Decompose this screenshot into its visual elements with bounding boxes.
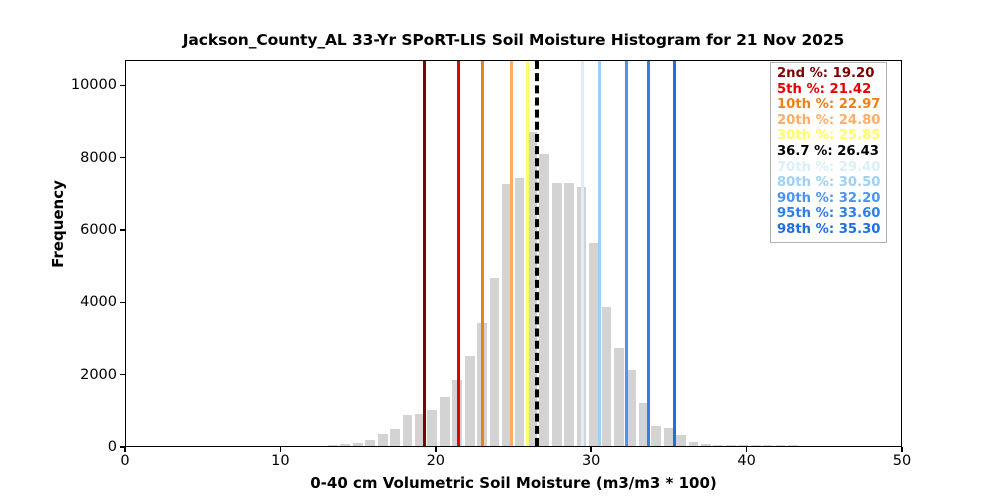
y-tick-label: 0 (108, 439, 117, 455)
x-tick-mark (435, 447, 437, 452)
page-title: Jackson_County_AL 33-Yr SPoRT-LIS Soil M… (125, 31, 902, 49)
percentile-line-5th (457, 61, 460, 446)
y-tick-label: 2000 (80, 367, 117, 383)
percentile-line-80th (598, 61, 601, 446)
histogram-bar (340, 444, 350, 446)
x-tick-label: 40 (737, 453, 755, 469)
histogram-bar (738, 445, 748, 446)
x-tick-mark (124, 447, 126, 452)
legend-entry-90th: 90th %: 32.20 (777, 191, 880, 207)
percentile-line-95th (647, 61, 650, 446)
histogram-bar (614, 348, 624, 446)
y-tick-label: 6000 (80, 222, 117, 238)
histogram-bar (515, 178, 525, 446)
legend-entry-2nd: 2nd %: 19.20 (777, 66, 880, 82)
percentile-line-70th (581, 61, 584, 446)
histogram-bar (689, 442, 699, 446)
percentile-line-current (535, 61, 539, 446)
histogram-bar (539, 154, 549, 446)
histogram-bar (465, 356, 475, 446)
histogram-bar (427, 410, 437, 446)
histogram-bar (390, 429, 400, 446)
histogram-bar (552, 183, 562, 446)
percentile-legend: 2nd %: 19.205th %: 21.4210th %: 22.9720t… (770, 62, 887, 243)
histogram-bar (365, 440, 375, 446)
x-tick-mark (746, 447, 748, 452)
histogram-bar (440, 397, 450, 446)
x-tick-label: 30 (582, 453, 600, 469)
histogram-bar (490, 278, 500, 446)
histogram-bar (602, 307, 612, 446)
legend-entry-10th: 10th %: 22.97 (777, 97, 880, 113)
x-tick-label: 0 (120, 453, 129, 469)
x-tick-label: 10 (271, 453, 289, 469)
legend-entry-95th: 95th %: 33.60 (777, 206, 880, 222)
legend-entry-current: 36.7 %: 26.43 (777, 144, 880, 160)
histogram-bar (713, 445, 723, 446)
x-tick-label: 50 (893, 453, 911, 469)
histogram-bar (564, 183, 574, 446)
histogram-bar (751, 445, 761, 446)
histogram-bar (676, 435, 686, 446)
histogram-bar (776, 445, 786, 446)
x-tick-mark (901, 447, 903, 452)
histogram-bar (726, 445, 736, 446)
x-tick-mark (280, 447, 282, 452)
figure-canvas: Jackson_County_AL 33-Yr SPoRT-LIS Soil M… (0, 0, 1000, 500)
y-tick-label: 10000 (71, 77, 117, 93)
x-axis-label: 0-40 cm Volumetric Soil Moisture (m3/m3 … (125, 474, 902, 492)
histogram-bar (664, 428, 674, 446)
histogram-bar (651, 426, 661, 446)
legend-entry-98th: 98th %: 35.30 (777, 222, 880, 238)
percentile-line-20th (510, 61, 513, 446)
x-tick-label: 20 (427, 453, 445, 469)
legend-entry-30th: 30th %: 25.85 (777, 128, 880, 144)
x-tick-mark (590, 447, 592, 452)
histogram-bar (353, 443, 363, 446)
y-tick-label: 4000 (80, 294, 117, 310)
histogram-bar (403, 415, 413, 446)
percentile-line-2nd (423, 61, 426, 446)
histogram-bar (763, 445, 773, 446)
histogram-bar (701, 444, 711, 446)
histogram-bar (788, 445, 798, 446)
legend-entry-80th: 80th %: 30.50 (777, 175, 880, 191)
percentile-line-98th (673, 61, 676, 446)
percentile-line-90th (625, 61, 628, 446)
y-tick-label: 8000 (80, 150, 117, 166)
histogram-bar (589, 243, 599, 446)
percentile-line-30th (526, 61, 529, 446)
histogram-bar (328, 445, 338, 446)
percentile-line-10th (481, 61, 484, 446)
legend-entry-70th: 70th %: 29.40 (777, 160, 880, 176)
histogram-bar (378, 434, 388, 446)
legend-entry-20th: 20th %: 24.80 (777, 113, 880, 129)
legend-entry-5th: 5th %: 21.42 (777, 82, 880, 98)
y-axis-tick-labels: 0200040006000800010000 (55, 0, 117, 500)
